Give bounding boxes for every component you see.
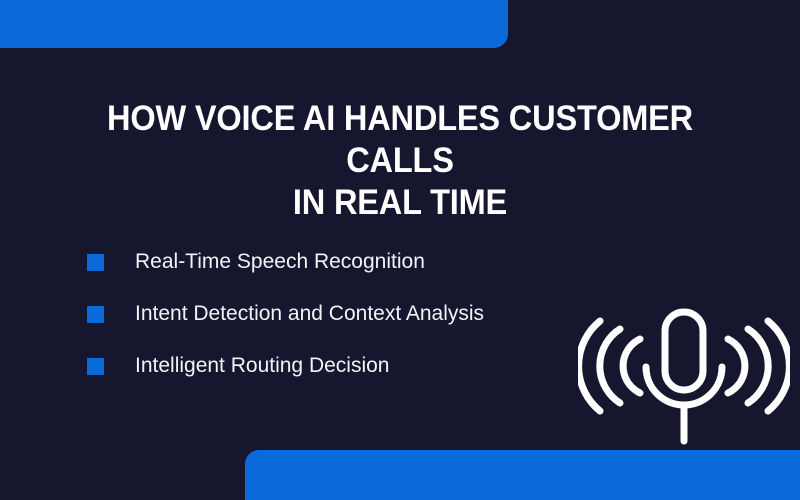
microphone-icon	[578, 305, 790, 453]
page-title: HOW VOICE AI HANDLES CUSTOMER CALLS IN R…	[56, 98, 744, 224]
slide-canvas: HOW VOICE AI HANDLES CUSTOMER CALLS IN R…	[0, 0, 800, 500]
bullet-square-icon	[87, 306, 104, 323]
bullet-item-label: Intent Detection and Context Analysis	[135, 301, 484, 327]
sound-wave-right-mid	[748, 329, 768, 403]
bullet-square-icon	[87, 254, 104, 271]
bullet-square-icon	[87, 358, 104, 375]
bullet-item-label: Intelligent Routing Decision	[135, 353, 389, 379]
list-item: Real-Time Speech Recognition	[87, 236, 707, 288]
bullet-item-label: Real-Time Speech Recognition	[135, 249, 425, 275]
top-accent-bar	[0, 0, 508, 48]
sound-wave-left-mid	[600, 329, 620, 403]
sound-wave-left-inner	[623, 339, 640, 393]
sound-wave-right-inner	[728, 339, 745, 393]
mic-capsule-shape	[665, 312, 703, 390]
bottom-accent-bar	[245, 450, 800, 500]
mic-cradle-arc	[646, 367, 722, 405]
